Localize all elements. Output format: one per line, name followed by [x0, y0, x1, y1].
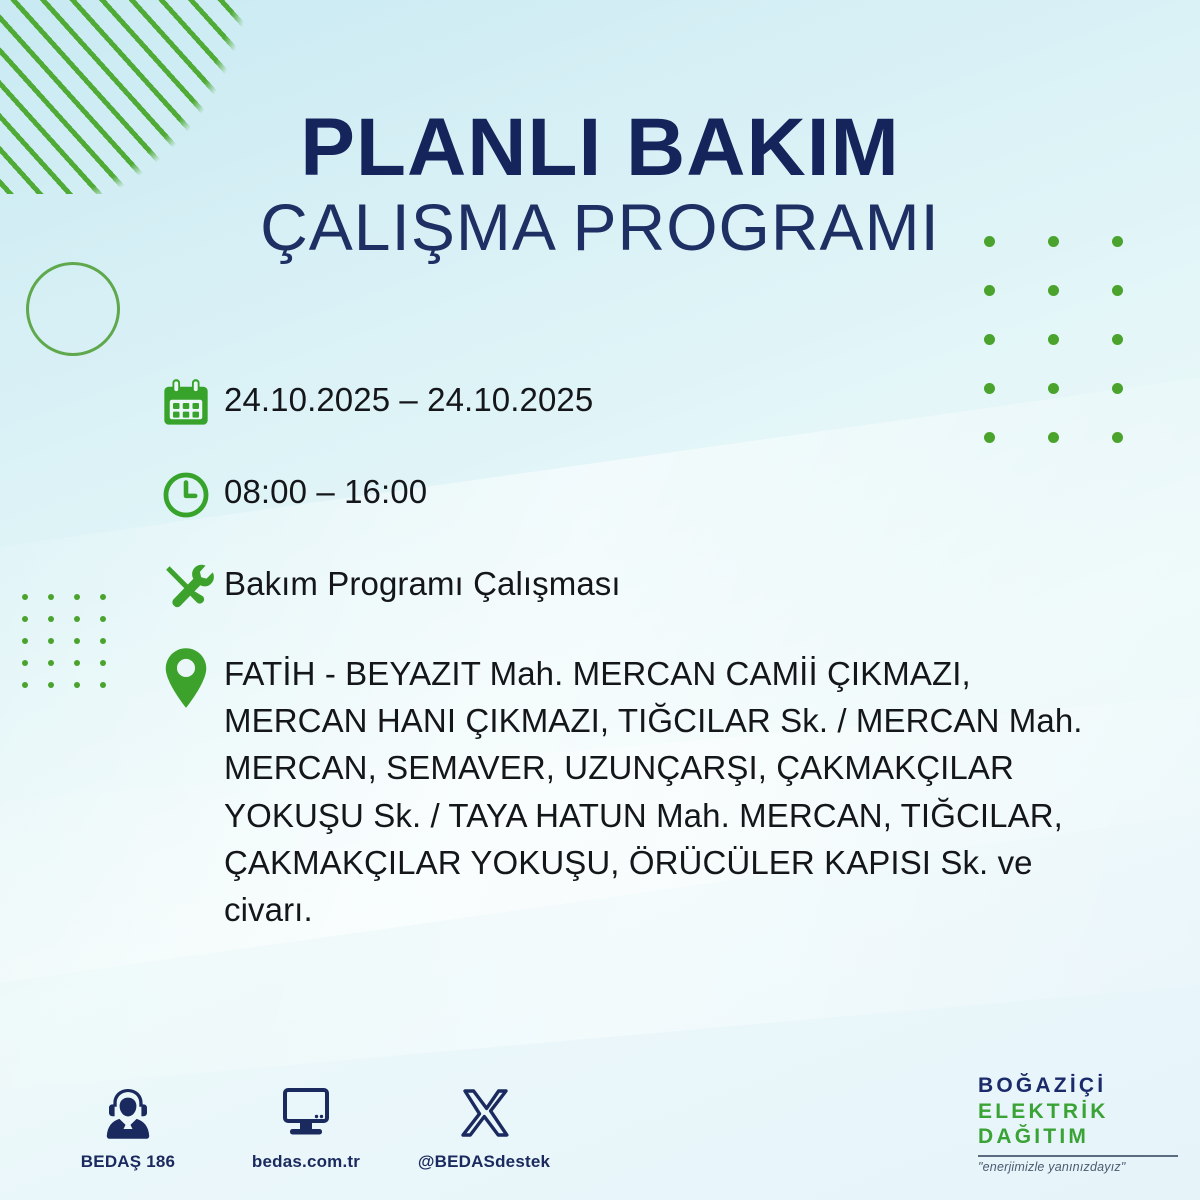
dot	[984, 285, 995, 296]
circle-outline-decoration	[26, 262, 120, 356]
calendar-icon	[160, 372, 224, 434]
info-row-worktype-text: Bakım Programı Çalışması	[224, 556, 1120, 605]
info-row-date-text: 24.10.2025 – 24.10.2025	[224, 372, 1120, 421]
info-row-address: FATİH - BEYAZIT Mah. MERCAN CAMİİ ÇIKMAZ…	[160, 648, 1120, 933]
contact-call-center[interactable]: BEDAŞ 186	[58, 1081, 198, 1172]
dot	[100, 616, 106, 622]
dot	[48, 616, 54, 622]
dot	[22, 616, 28, 622]
dot	[48, 638, 54, 644]
dot	[984, 334, 995, 345]
logo-line-elektrik: ELEKTRİK	[978, 1099, 1178, 1125]
dot	[48, 660, 54, 666]
page-title: PLANLI BAKIM ÇALIŞMA PROGRAMI	[0, 108, 1200, 262]
info-row-date: 24.10.2025 – 24.10.2025	[160, 372, 1120, 434]
contact-website[interactable]: bedas.com.tr	[236, 1081, 376, 1172]
info-row-worktype: Bakım Programı Çalışması	[160, 556, 1120, 618]
monitor-icon	[276, 1081, 336, 1143]
dot	[48, 594, 54, 600]
dot	[74, 660, 80, 666]
contact-x-account[interactable]: @BEDASdestek	[414, 1081, 554, 1172]
dot	[100, 638, 106, 644]
dot	[1048, 285, 1059, 296]
logo-divider	[978, 1155, 1178, 1157]
dot	[22, 660, 28, 666]
info-row-time: 08:00 – 16:00	[160, 464, 1120, 526]
dot	[22, 682, 28, 688]
title-primary: PLANLI BAKIM	[0, 108, 1200, 188]
dot	[22, 638, 28, 644]
dot-grid-left-decoration	[22, 594, 126, 704]
tools-icon	[160, 556, 224, 618]
location-pin-icon	[160, 648, 224, 708]
info-row-time-text: 08:00 – 16:00	[224, 464, 1120, 513]
poster-canvas: PLANLI BAKIM ÇALIŞMA PROGRAMI	[0, 0, 1200, 1200]
info-row-address-text: FATİH - BEYAZIT Mah. MERCAN CAMİİ ÇIKMAZ…	[224, 648, 1120, 933]
dot	[74, 682, 80, 688]
contact-call-center-label: BEDAŞ 186	[81, 1152, 175, 1172]
dot	[74, 616, 80, 622]
dot	[100, 682, 106, 688]
dot	[74, 638, 80, 644]
dot	[74, 594, 80, 600]
logo-line-bogazici: BOĞAZİÇİ	[978, 1073, 1178, 1099]
company-logo: BOĞAZİÇİ ELEKTRİK DAĞITIM "enerjimizle y…	[978, 1073, 1178, 1174]
info-list: 24.10.2025 – 24.10.2025 08:00 – 16:00	[160, 372, 1120, 933]
footer-contacts: BEDAŞ 186 bedas.com.tr	[58, 1081, 554, 1172]
title-secondary: ÇALIŞMA PROGRAMI	[0, 194, 1200, 261]
dot	[1048, 334, 1059, 345]
x-twitter-icon	[456, 1081, 512, 1143]
contact-x-account-label: @BEDASdestek	[418, 1152, 550, 1172]
dot	[48, 682, 54, 688]
contact-website-label: bedas.com.tr	[252, 1152, 360, 1172]
dot	[22, 594, 28, 600]
dot	[1112, 334, 1123, 345]
dot	[100, 660, 106, 666]
dot	[1112, 285, 1123, 296]
clock-icon	[160, 464, 224, 526]
logo-line-dagitim: DAĞITIM	[978, 1124, 1178, 1150]
support-agent-icon	[100, 1081, 156, 1143]
logo-tagline: "enerjimizle yanınızdayız"	[978, 1160, 1178, 1174]
dot	[100, 594, 106, 600]
